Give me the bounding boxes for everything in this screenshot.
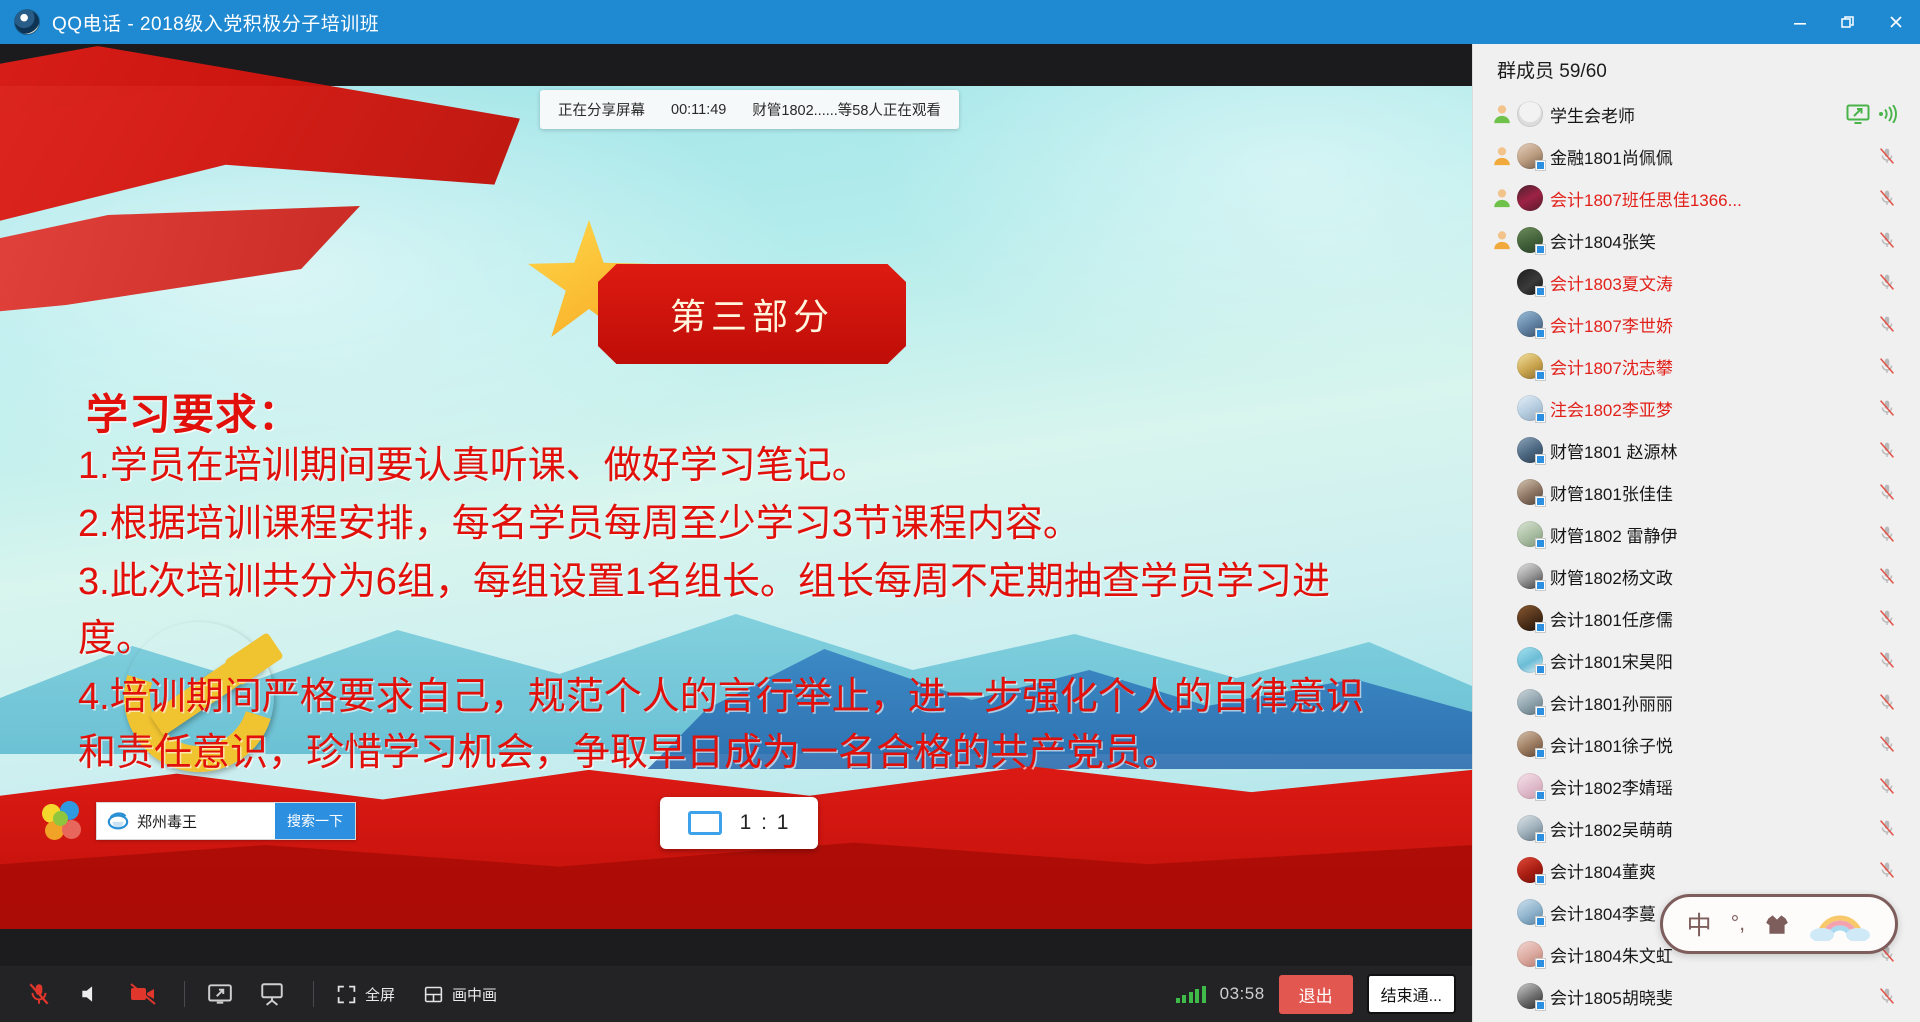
member-status-icons [1876,985,1898,1007]
exit-button[interactable]: 退出 [1279,975,1353,1014]
member-avatar[interactable] [1517,185,1543,211]
qq-status-badge [1535,454,1546,465]
member-name: 学生会老师 [1550,102,1635,127]
share-screen-icon[interactable] [197,971,243,1017]
microphone-muted-icon[interactable] [1876,649,1898,671]
member-name: 会计1804张笑 [1550,228,1656,253]
member-avatar[interactable] [1517,899,1543,925]
search-query-text: 郑州毒王 [137,811,197,832]
desktop-search-widget[interactable]: 郑州毒王 搜索一下 [42,801,356,841]
member-name: 会计1801任彦儒 [1550,606,1673,631]
restore-icon[interactable] [1824,0,1872,44]
ribbon-shape: 第三部分 [598,264,906,364]
minimize-icon[interactable] [1776,0,1824,44]
ratio-widget[interactable]: 1 : 1 [660,797,818,849]
end-call-button[interactable]: 结束通... [1367,974,1456,1014]
whiteboard-icon[interactable] [249,971,295,1017]
participant-speaking-icon [1491,103,1513,125]
qq-status-badge [1535,370,1546,381]
pip-label: 画中画 [452,984,497,1005]
rainbow-weather-icon[interactable] [1809,907,1871,941]
qq-status-badge [1535,832,1546,843]
pip-icon [423,984,444,1005]
participant-speaking-icon [1491,229,1513,251]
member-avatar[interactable] [1517,647,1543,673]
members-list[interactable]: 学生会老师金融1801尚佩佩会计1807班任思佳1366...会计1804张笑会… [1473,93,1920,1017]
qq-logo-icon [14,9,40,35]
signal-bars-icon [1176,986,1206,1003]
member-name: 会计1801孙丽丽 [1550,690,1673,715]
slide-line: 1.学员在培训期间要认真听课、做好学习笔记。 [78,438,1398,494]
member-avatar[interactable] [1517,143,1543,169]
member-status-icons [1876,859,1898,881]
member-avatar[interactable] [1517,983,1543,1009]
member-row[interactable]: 会计1802李婧瑶 [1473,765,1920,807]
microphone-muted-icon[interactable] [1876,481,1898,503]
member-name: 财管1801 赵源林 [1550,438,1678,463]
member-name: 财管1802杨文政 [1550,564,1673,589]
qq-status-badge [1535,244,1546,255]
search-submit-button[interactable]: 搜索一下 [275,803,355,839]
microphone-muted-icon[interactable] [1876,271,1898,293]
member-row[interactable]: 金融1801尚佩佩 [1473,135,1920,177]
fullscreen-label: 全屏 [365,984,395,1005]
microphone-muted-icon[interactable] [1876,523,1898,545]
red-brush-decoration-2 [0,206,360,356]
qq-status-badge [1535,748,1546,759]
close-icon[interactable] [1872,0,1920,44]
qq-status-badge [1535,958,1546,969]
shirt-icon[interactable] [1764,913,1790,935]
member-status-icons [1876,313,1898,335]
qq-status-badge [1535,496,1546,507]
member-name: 会计1807班任思佳1366... [1550,186,1742,211]
toolbar-right-group: 03:58 退出 结束通... [1176,974,1456,1014]
member-avatar[interactable] [1517,731,1543,757]
member-avatar[interactable] [1517,269,1543,295]
member-speaking-slot [1487,187,1517,209]
member-avatar[interactable] [1517,857,1543,883]
member-status-icons [1876,481,1898,503]
member-avatar[interactable] [1517,479,1543,505]
member-row[interactable]: 学生会老师 [1473,93,1920,135]
microphone-muted-icon[interactable] [1876,145,1898,167]
member-status-icons [1876,691,1898,713]
member-row[interactable]: 会计1801孙丽丽 [1473,681,1920,723]
microphone-muted-icon[interactable] [1876,607,1898,629]
qq-status-badge [1535,622,1546,633]
microphone-muted-icon[interactable] [1876,733,1898,755]
microphone-muted-icon[interactable] [1876,439,1898,461]
qq-status-badge [1535,874,1546,885]
member-avatar[interactable] [1517,773,1543,799]
toolbar-divider [313,981,314,1007]
member-row[interactable]: 注会1802李亚梦 [1473,387,1920,429]
member-row[interactable]: 会计1807班任思佳1366... [1473,177,1920,219]
member-status-icons [1876,565,1898,587]
member-row[interactable]: 财管1802 雷静伊 [1473,513,1920,555]
member-speaking-slot [1487,103,1517,125]
member-status-icons [1876,145,1898,167]
internet-explorer-icon [107,810,129,832]
member-status-icons [1876,229,1898,251]
call-toolbar: 全屏 画中画 03:58 退出 结束通... [0,966,1472,1022]
member-name: 财管1801张佳佳 [1550,480,1673,505]
qq-status-badge [1535,160,1546,171]
member-name: 财管1802 雷静伊 [1550,522,1678,547]
section-banner-label: 第三部分 [670,288,834,340]
member-row[interactable]: 会计1807沈志攀 [1473,345,1920,387]
member-row[interactable]: 会计1807李世娇 [1473,303,1920,345]
member-avatar[interactable] [1517,689,1543,715]
member-row[interactable]: 会计1801宋昊阳 [1473,639,1920,681]
member-avatar[interactable] [1517,563,1543,589]
presentation-slide: 第三部分 学习要求： 1.学员在培训期间要认真听课、做好学习笔记。 2.根据培训… [0,86,1472,929]
camera-off-icon[interactable] [120,971,166,1017]
qq-status-badge [1535,286,1546,297]
speaking-indicator-icon [1878,105,1898,123]
member-avatar[interactable] [1517,605,1543,631]
member-avatar[interactable] [1517,521,1543,547]
member-name: 注会1802李亚梦 [1550,396,1673,421]
member-status-icons [1876,817,1898,839]
member-avatar[interactable] [1517,227,1543,253]
microphone-muted-icon[interactable] [1876,859,1898,881]
ime-mode-label[interactable]: 中 [1687,906,1712,942]
flower-logo-icon [42,801,82,841]
member-status-icons [1876,607,1898,629]
screen-icon [688,811,722,835]
share-elapsed-time: 00:11:49 [671,102,726,118]
microphone-muted-icon[interactable] [1876,775,1898,797]
share-status-text: 正在分享屏幕 [558,99,645,120]
member-avatar[interactable] [1517,353,1543,379]
participant-speaking-icon [1491,145,1513,167]
member-name: 会计1807沈志攀 [1550,354,1673,379]
member-status-icons [1876,649,1898,671]
microphone-muted-icon[interactable] [1876,985,1898,1007]
slide-body: 1.学员在培训期间要认真听课、做好学习笔记。 2.根据培训课程安排，每名学员每周… [78,438,1398,783]
member-row[interactable]: 会计1804董爽 [1473,849,1920,891]
shared-screen-stage[interactable]: 第三部分 学习要求： 1.学员在培训期间要认真听课、做好学习笔记。 2.根据培训… [0,44,1472,1022]
qq-status-badge [1535,916,1546,927]
member-avatar[interactable] [1517,437,1543,463]
ime-floating-bar[interactable]: 中 °, [1660,894,1898,954]
call-timer: 03:58 [1220,984,1265,1004]
section-banner: 第三部分 [520,214,920,389]
microphone-muted-icon[interactable] [1876,565,1898,587]
members-panel: 群成员 59/60 学生会老师金融1801尚佩佩会计1807班任思佳1366..… [1472,44,1920,1022]
member-avatar[interactable] [1517,395,1543,421]
microphone-muted-icon[interactable] [1876,397,1898,419]
member-name: 会计1801徐子悦 [1550,732,1673,757]
member-name: 会计1804董爽 [1550,858,1656,883]
qq-status-badge [1535,328,1546,339]
member-status-icons [1876,523,1898,545]
member-status-icons [1876,187,1898,209]
member-status-icons [1876,355,1898,377]
member-row[interactable]: 会计1802吴萌萌 [1473,807,1920,849]
search-field[interactable]: 郑州毒王 [97,803,275,839]
member-row[interactable]: 会计1801徐子悦 [1473,723,1920,765]
qq-status-badge [1535,790,1546,801]
slide-heading: 学习要求： [86,381,301,442]
share-screen-active-icon [1846,104,1870,125]
member-avatar[interactable] [1517,941,1543,967]
picture-in-picture-button[interactable]: 画中画 [413,978,507,1011]
ime-punctuation-label[interactable]: °, [1731,912,1745,936]
slide-line: 4.培训期间严格要求自己，规范个人的言行举止，进一步强化个人的自律意识和责任意识… [78,669,1398,781]
member-row[interactable]: 会计1804张笑 [1473,219,1920,261]
fullscreen-button[interactable]: 全屏 [326,978,405,1011]
member-status-icons [1876,397,1898,419]
member-name: 会计1802李婧瑶 [1550,774,1673,799]
member-row[interactable]: 财管1801 赵源林 [1473,429,1920,471]
fullscreen-icon [336,984,357,1005]
member-speaking-slot [1487,229,1517,251]
ratio-label: 1 : 1 [740,811,791,835]
member-avatar[interactable] [1517,101,1543,127]
window-controls [1776,0,1920,44]
member-name: 会计1804李蔓 [1550,900,1656,925]
microphone-muted-icon[interactable] [1876,691,1898,713]
qq-status-badge [1535,412,1546,423]
member-avatar[interactable] [1517,815,1543,841]
microphone-muted-icon[interactable] [1876,229,1898,251]
speaker-icon[interactable] [68,971,114,1017]
member-name: 会计1804朱文虹 [1550,942,1673,967]
microphone-muted-icon[interactable] [1876,355,1898,377]
member-status-icons [1846,104,1898,125]
member-speaking-slot [1487,145,1517,167]
microphone-muted-icon[interactable] [1876,817,1898,839]
slide-line: 3.此次培训共分为6组，每组设置1名组长。组长每周不定期抽查学员学习进度。 [78,554,1398,666]
microphone-muted-icon[interactable] [1876,313,1898,335]
window-title: QQ电话 - 2018级入党积极分子培训班 [52,9,379,36]
microphone-muted-icon[interactable] [16,971,62,1017]
share-viewers-text: 财管1802......等58人正在观看 [752,99,941,120]
member-name: 金融1801尚佩佩 [1550,144,1673,169]
member-status-icons [1876,733,1898,755]
qq-call-window: QQ电话 - 2018级入党积极分子培训班 [0,0,1920,1022]
member-status-icons [1876,775,1898,797]
member-row[interactable]: 财管1801张佳佳 [1473,471,1920,513]
slide-line: 2.根据培训课程安排，每名学员每周至少学习3节课程内容。 [78,496,1398,552]
search-box[interactable]: 郑州毒王 搜索一下 [96,802,356,840]
title-bar: QQ电话 - 2018级入党积极分子培训班 [0,0,1920,44]
share-status-bar: 正在分享屏幕 00:11:49 财管1802......等58人正在观看 [540,90,959,129]
member-row[interactable]: 会计1803夏文涛 [1473,261,1920,303]
qq-status-badge [1535,664,1546,675]
member-name: 会计1802吴萌萌 [1550,816,1673,841]
member-row[interactable]: 会计1801任彦儒 [1473,597,1920,639]
member-row[interactable]: 会计1805胡晓斐 [1473,975,1920,1017]
member-avatar[interactable] [1517,311,1543,337]
qq-status-badge [1535,1000,1546,1011]
member-status-icons [1876,271,1898,293]
members-panel-header: 群成员 59/60 [1473,44,1920,93]
qq-status-badge [1535,706,1546,717]
member-name: 会计1803夏文涛 [1550,270,1673,295]
member-name: 会计1807李世娇 [1550,312,1673,337]
member-status-icons [1876,439,1898,461]
qq-status-badge [1535,538,1546,549]
participant-speaking-icon [1491,187,1513,209]
member-name: 会计1805胡晓斐 [1550,984,1673,1009]
member-row[interactable]: 财管1802杨文政 [1473,555,1920,597]
microphone-muted-icon[interactable] [1876,187,1898,209]
member-name: 会计1801宋昊阳 [1550,648,1673,673]
qq-status-badge [1535,580,1546,591]
toolbar-divider [184,981,185,1007]
